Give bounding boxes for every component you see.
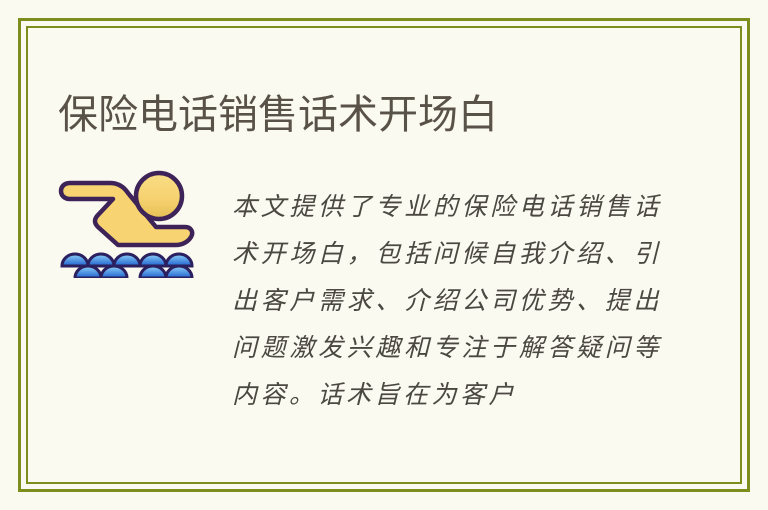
swimmer-icon <box>58 163 203 278</box>
water-waves <box>62 254 192 278</box>
page-title: 保险电话销售话术开场白 <box>58 93 698 137</box>
article-content: 本文提供了专业的保险电话销售话术开场白，包括问候自我介绍、引出客户需求、介绍公司… <box>58 158 678 408</box>
swimmer-head-shape <box>136 173 182 219</box>
document-page: 保险电话销售话术开场白 <box>0 0 768 510</box>
article-summary-text: 本文提供了专业的保险电话销售话术开场白，包括问候自我介绍、引出客户需求、介绍公司… <box>232 183 662 418</box>
